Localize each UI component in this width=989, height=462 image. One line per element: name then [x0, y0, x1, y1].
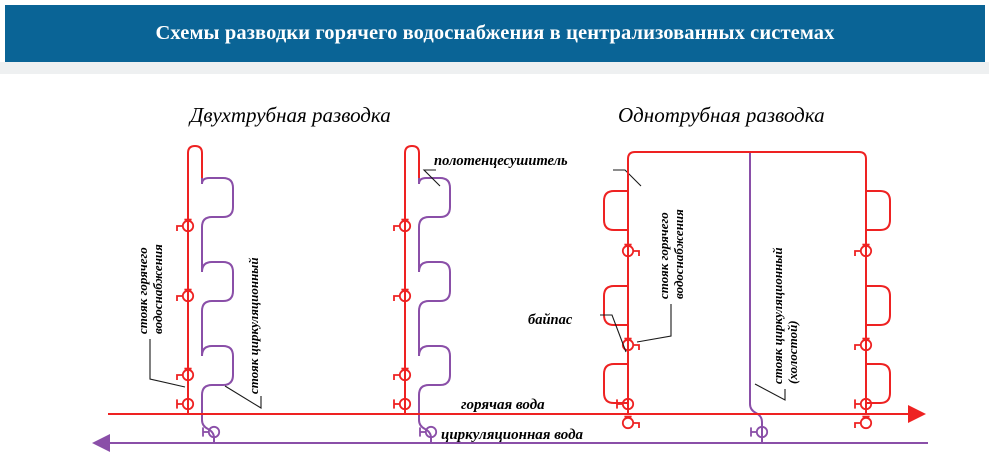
label-hot-riser-right: стояк горячего водоснабжения: [656, 209, 686, 299]
svg-text:водоснабжения: водоснабжения: [150, 244, 165, 334]
label-hot-riser-left: стояк горячего водоснабжения: [135, 244, 165, 334]
single-pipe-left-riser: [604, 191, 639, 428]
page-title: Схемы разводки горячего водоснабжения в …: [5, 5, 985, 62]
tap-valve-icon[interactable]: [394, 369, 410, 381]
tap-valve-icon[interactable]: [177, 369, 193, 381]
tap-valve-icon[interactable]: [177, 290, 193, 302]
circulation-riser-with-towel-rails: [202, 178, 233, 414]
idle-circulation-riser: [750, 153, 762, 443]
tap-valve-icon[interactable]: [623, 417, 639, 429]
svg-text:стояк горячего: стояк горячего: [135, 247, 150, 334]
label-bypass: байпас: [528, 312, 573, 328]
leader-idle-riser: [755, 384, 785, 400]
diagram-canvas: Двухтрубная разводка Однотрубная разводк…: [0, 74, 989, 462]
svg-text:стояк горячего: стояк горячего: [656, 212, 671, 299]
svg-text:стояк циркуляционный: стояк циркуляционный: [770, 247, 785, 384]
shutoff-valve-icon[interactable]: [394, 399, 410, 409]
shutoff-valve-icon[interactable]: [751, 427, 767, 437]
svg-text:стояк циркуляционный: стояк циркуляционный: [246, 257, 261, 394]
hot-riser-pipe: [405, 146, 419, 414]
two-pipe-riser-group-1: [177, 146, 233, 443]
tap-valve-icon[interactable]: [177, 220, 193, 232]
label-hot-water-flow: горячая вода: [461, 397, 545, 413]
label-circulation-water-flow: циркуляционная вода: [441, 427, 584, 443]
page-root: Схемы разводки горячего водоснабжения в …: [0, 0, 989, 462]
svg-text:(холостой): (холостой): [785, 320, 800, 384]
tap-valve-icon[interactable]: [855, 339, 871, 351]
hot-riser-pipe: [188, 146, 202, 414]
circulation-riser-with-towel-rails: [419, 178, 450, 414]
tap-valve-icon[interactable]: [855, 245, 871, 257]
schematic-svg: Двухтрубная разводка Однотрубная разводк…: [0, 74, 989, 462]
tap-valve-icon[interactable]: [394, 290, 410, 302]
leader-hot-riser-right: [637, 304, 671, 342]
header-banner: Схемы разводки горячего водоснабжения в …: [5, 5, 985, 62]
leader-hot-riser-left: [150, 339, 185, 387]
towel-rail-loop: [866, 191, 890, 230]
towel-rail-loop: [866, 364, 890, 403]
tap-valve-icon[interactable]: [855, 417, 871, 429]
label-circulation-riser-left: стояк циркуляционный: [246, 257, 261, 394]
svg-text:водоснабжения: водоснабжения: [671, 209, 686, 299]
towel-rail-loop: [866, 286, 890, 325]
towel-rail-loop-bypass: [604, 364, 628, 403]
diagram-title-single-pipe: Однотрубная разводка: [618, 103, 825, 127]
banner-gap-divider: [0, 62, 989, 74]
diagram-title-two-pipe: Двухтрубная разводка: [188, 103, 391, 127]
shutoff-valve-icon[interactable]: [177, 399, 193, 409]
label-towel-rail: полотенцесушитель: [434, 153, 568, 169]
single-pipe-right-riser: [855, 191, 890, 428]
tap-valve-icon[interactable]: [623, 245, 639, 257]
towel-rail-loop: [604, 286, 628, 325]
tap-valve-icon[interactable]: [394, 220, 410, 232]
two-pipe-riser-group-2: [394, 146, 450, 443]
label-idle-riser: стояк циркуляционный (холостой): [770, 247, 800, 384]
towel-rail-loop: [604, 191, 628, 230]
